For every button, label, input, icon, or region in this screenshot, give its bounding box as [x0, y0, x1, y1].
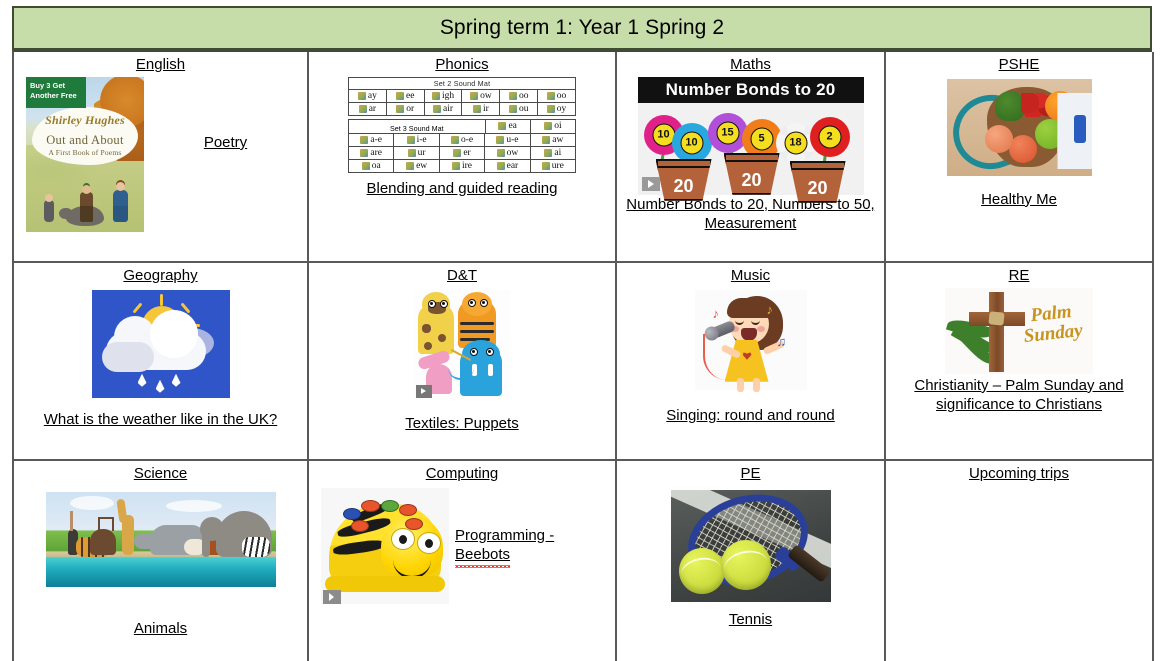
term-banner: Spring term 1: Year 1 Spring 2: [12, 6, 1152, 50]
flower-number: 18: [784, 131, 807, 154]
subject-title-dt: D&T: [315, 267, 609, 286]
caption-geography: What is the weather like in the UK?: [20, 410, 301, 430]
set2-row-2: ar or air ir ou oy: [349, 102, 575, 115]
sound-picture-icon: [470, 92, 478, 100]
sound-tile: ear: [485, 160, 530, 172]
play-button-icon[interactable]: [416, 385, 432, 398]
cross-icon: [989, 292, 1004, 372]
sound-tile: ire: [440, 160, 485, 172]
sound-picture-icon: [358, 92, 366, 100]
flower-number: 2: [818, 125, 841, 148]
caption-phonics: Blending and guided reading: [315, 179, 609, 199]
play-button-icon[interactable]: [323, 590, 341, 604]
animals-image: [46, 492, 276, 587]
sound-picture-icon: [396, 92, 404, 100]
cell-upcoming-trips: Upcoming trips: [886, 461, 1154, 661]
sound-picture-icon: [407, 136, 415, 144]
sound-tile: er: [440, 147, 485, 159]
singing-girl-image: ♪ ♪ ♫: [695, 290, 807, 390]
caption-science: Animals: [20, 619, 301, 639]
sound-tile: oa: [349, 160, 394, 172]
subject-title-science: Science: [20, 465, 301, 484]
beebot-image: [321, 488, 449, 604]
flower-number: 10: [680, 131, 703, 154]
sound-picture-icon: [451, 136, 459, 144]
cell-computing: Computing: [309, 461, 617, 661]
set3-row-3: oa ew ire ear ure: [349, 159, 575, 172]
subject-title-music: Music: [623, 267, 878, 286]
flower: 10: [672, 123, 712, 163]
sound-mat-image: Set 2 Sound Mat ay ee igh ow oo oo ar or…: [348, 77, 576, 173]
sound-tile: air: [425, 103, 463, 115]
sound-tile: ee: [387, 90, 425, 102]
pot-number: 20: [790, 161, 846, 203]
puppets-image: [414, 290, 510, 400]
subject-title-re: RE: [892, 267, 1146, 286]
sound-tile: ay: [349, 90, 387, 102]
sound-picture-icon: [547, 92, 555, 100]
set3-row-2: are ur er ow ai: [349, 146, 575, 159]
set3-heading-area: Set 3 Sound Mat: [349, 120, 486, 133]
pot-number: 20: [656, 159, 712, 201]
sound-tile: oo: [538, 90, 575, 102]
sound-tile: ow: [485, 147, 530, 159]
sound-picture-icon: [542, 162, 550, 170]
sound-tile: ir: [462, 103, 500, 115]
sound-picture-icon: [497, 162, 505, 170]
weather-image: [92, 290, 230, 398]
sound-tile: oy: [538, 103, 575, 115]
palm-sunday-script: Palm Sunday: [1016, 300, 1089, 363]
cell-phonics: Phonics Set 2 Sound Mat ay ee igh ow oo …: [309, 52, 617, 263]
caption-maths: Number Bonds to 20, Numbers to 50, Measu…: [623, 195, 878, 234]
cell-english: English Shirley Hughes Out and About A F…: [14, 52, 309, 263]
set3-heading-row: Set 3 Sound Mat ea oi: [349, 120, 575, 133]
sound-picture-icon: [433, 105, 441, 113]
subject-title-geography: Geography: [20, 267, 301, 286]
english-content: Shirley Hughes Out and About A First Boo…: [20, 77, 301, 232]
number-bonds-banner: Number Bonds to 20: [638, 77, 864, 103]
sound-tile: u-e: [485, 134, 530, 146]
tennis-ball: [679, 548, 725, 594]
sound-picture-icon: [497, 149, 505, 157]
healthy-food-image: [947, 79, 1092, 176]
page-title: Spring term 1: Year 1 Spring 2: [440, 16, 724, 40]
sound-picture-icon: [406, 162, 414, 170]
cell-music: Music: [617, 263, 886, 461]
caption-music: Singing: round and round: [623, 406, 878, 426]
sound-tile: ew: [394, 160, 439, 172]
sound-tile: ar: [349, 103, 387, 115]
thread-icon: [448, 356, 474, 380]
caption-pshe: Healthy Me: [892, 190, 1146, 210]
flower-number: 15: [716, 121, 739, 144]
sound-picture-icon: [359, 105, 367, 113]
sound-tile: ure: [531, 160, 575, 172]
sound-tile: aw: [531, 134, 575, 146]
book-title: Out and About: [26, 133, 144, 148]
sound-picture-icon: [509, 92, 517, 100]
sound-picture-icon: [452, 162, 460, 170]
sound-tile: ou: [500, 103, 538, 115]
caption-re: Christianity – Palm Sunday and significa…: [892, 376, 1146, 415]
cell-maths: Maths Number Bonds to 20 10: [617, 52, 886, 263]
subject-title-pshe: PSHE: [892, 56, 1146, 75]
sound-picture-icon: [396, 105, 404, 113]
set3-row-1: a-e i-e o-e u-e aw: [349, 133, 575, 146]
cell-pe: PE Tennis: [617, 461, 886, 661]
sound-tile: ur: [394, 147, 439, 159]
subject-title-computing: Computing: [315, 465, 609, 484]
sound-tile: ea: [486, 120, 531, 133]
sound-tile: ai: [531, 147, 575, 159]
sound-tile: a-e: [349, 134, 394, 146]
sound-tile: oi: [531, 120, 575, 133]
sound-picture-icon: [432, 92, 440, 100]
sound-picture-icon: [544, 149, 552, 157]
cell-science: Science Animals: [14, 461, 309, 661]
book-promo-badge: Buy 3 Get Another Free: [26, 77, 86, 108]
sound-picture-icon: [360, 149, 368, 157]
palm-sunday-image: Palm Sunday: [945, 288, 1093, 374]
subjects-grid: English Shirley Hughes Out and About A F…: [12, 50, 1152, 661]
tennis-image: [671, 490, 831, 602]
sound-picture-icon: [362, 162, 370, 170]
set2-heading: Set 2 Sound Mat: [349, 78, 575, 90]
sound-picture-icon: [547, 105, 555, 113]
caption-dt: Textiles: Puppets: [315, 414, 609, 434]
sound-tile: o-e: [440, 134, 485, 146]
sound-picture-icon: [473, 105, 481, 113]
play-button-icon[interactable]: [642, 177, 660, 191]
sound-picture-icon: [360, 136, 368, 144]
pot-number: 20: [724, 153, 780, 195]
subject-title-phonics: Phonics: [315, 56, 609, 75]
flower-number: 5: [750, 127, 773, 150]
caption-computing-text: Programming -: [455, 527, 554, 544]
sound-picture-icon: [542, 136, 550, 144]
cell-dt: D&T: [309, 263, 617, 461]
subject-title-maths: Maths: [623, 56, 878, 75]
set2-row-1: ay ee igh ow oo oo: [349, 90, 575, 102]
cell-re: RE Palm Sunday Christianity – Palm Sunda…: [886, 263, 1154, 461]
set3-sound-mat: Set 3 Sound Mat ea oi a-e i-e o-e u-e aw: [348, 119, 576, 173]
caption-pe: Tennis: [623, 610, 878, 630]
sound-picture-icon: [496, 136, 504, 144]
sound-picture-icon: [544, 122, 552, 130]
sound-picture-icon: [509, 105, 517, 113]
subject-title-english: English: [20, 56, 301, 75]
sound-tile: are: [349, 147, 394, 159]
sound-tile: oo: [500, 90, 538, 102]
subject-title-pe: PE: [623, 465, 878, 484]
cell-pshe: PSHE Healthy Me: [886, 52, 1154, 263]
tennis-ball: [721, 540, 771, 590]
book-subtitle: A First Book of Poems: [26, 148, 144, 157]
sound-tile: igh: [425, 90, 463, 102]
curriculum-overview-page: Spring term 1: Year 1 Spring 2 English S…: [0, 0, 1164, 661]
sound-picture-icon: [408, 149, 416, 157]
sound-tile: ow: [462, 90, 500, 102]
set2-sound-mat: Set 2 Sound Mat ay ee igh ow oo oo ar or…: [348, 77, 576, 116]
sound-picture-icon: [498, 122, 506, 130]
sound-tile: i-e: [394, 134, 439, 146]
number-bonds-image: Number Bonds to 20 10: [638, 77, 864, 195]
book-author: Shirley Hughes: [26, 113, 144, 128]
caption-computing-misspelled: Beebots: [455, 545, 510, 565]
caption-computing: Programming - Beebots: [455, 526, 609, 565]
sound-picture-icon: [453, 149, 461, 157]
subject-title-upcoming-trips: Upcoming trips: [892, 465, 1146, 484]
caption-english: Poetry: [150, 133, 301, 153]
book-cover-image: Shirley Hughes Out and About A First Boo…: [26, 77, 144, 232]
sound-tile: or: [387, 103, 425, 115]
flower: 2: [810, 117, 850, 157]
cell-geography: Geography What is the weather: [14, 263, 309, 461]
